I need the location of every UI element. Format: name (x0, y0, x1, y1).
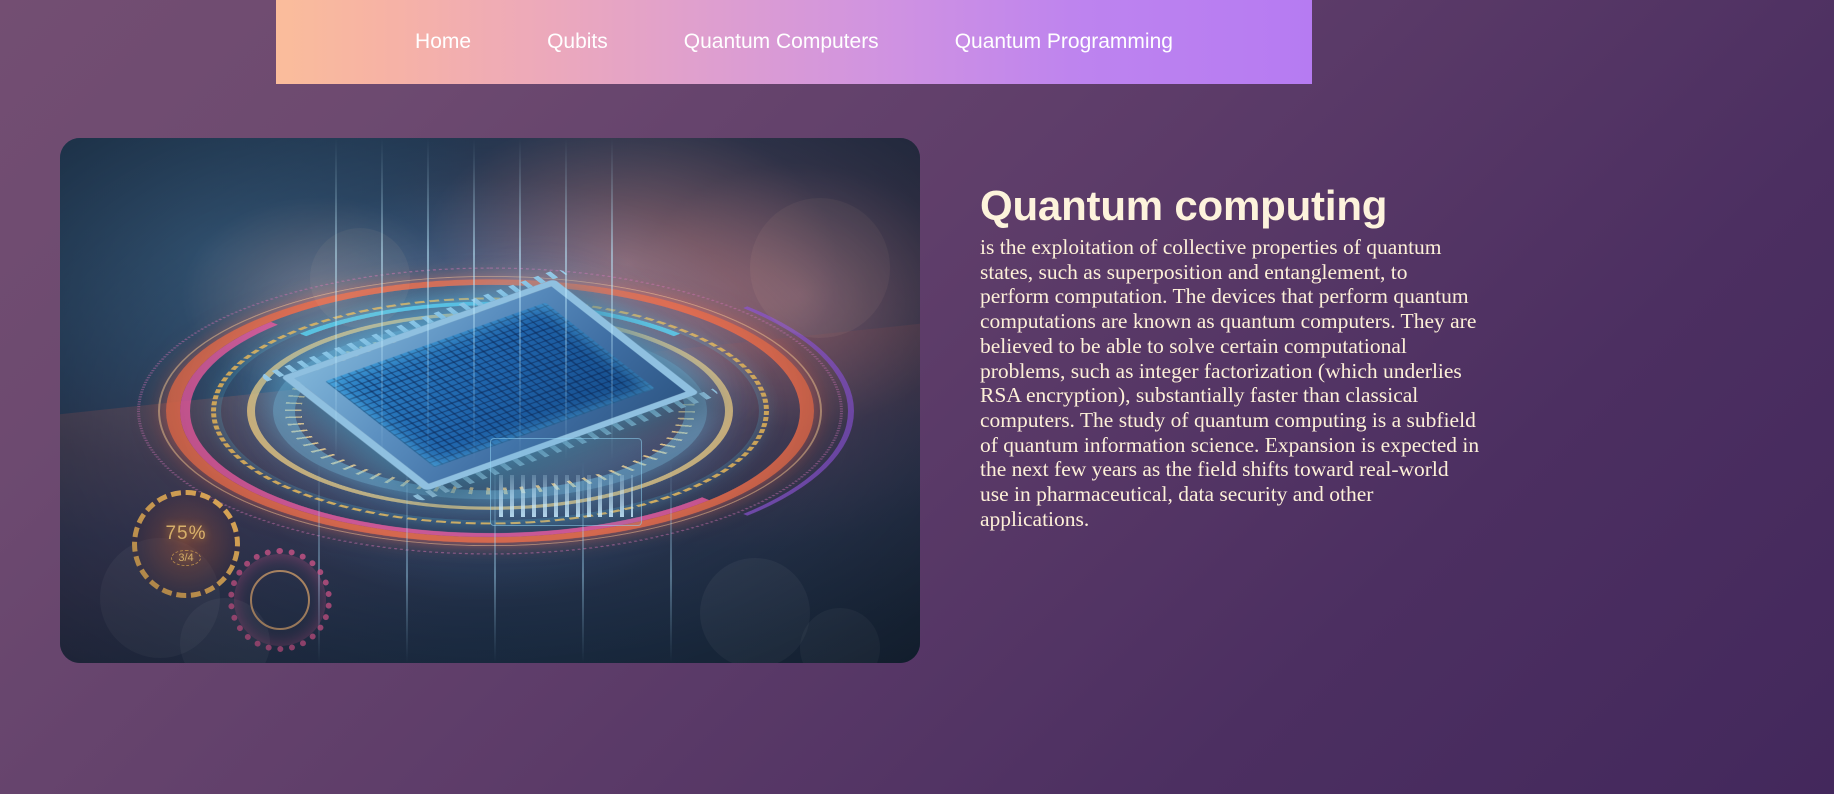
nav-item-quantum-programming[interactable]: Quantum Programming (917, 0, 1211, 84)
nav-link-home[interactable]: Home (377, 0, 509, 84)
nav-item-qubits[interactable]: Qubits (509, 0, 646, 84)
main-navigation: Home Qubits Quantum Computers Quantum Pr… (276, 0, 1312, 84)
nav-link-quantum-computers[interactable]: Quantum Computers (646, 0, 917, 84)
nav-item-home[interactable]: Home (377, 0, 509, 84)
main-content: 75% 3/4 Quantum computing is the exploit… (0, 138, 1834, 663)
hero-image: 75% 3/4 (60, 138, 920, 663)
article-text-column: Quantum computing is the exploitation of… (980, 138, 1480, 531)
page-root: Home Qubits Quantum Computers Quantum Pr… (0, 0, 1834, 794)
nav-item-quantum-computers[interactable]: Quantum Computers (646, 0, 917, 84)
page-title: Quantum computing (980, 182, 1480, 229)
nav-link-quantum-programming[interactable]: Quantum Programming (917, 0, 1211, 84)
illustration-vignette (60, 138, 920, 663)
nav-link-qubits[interactable]: Qubits (509, 0, 646, 84)
nav-list: Home Qubits Quantum Computers Quantum Pr… (377, 0, 1211, 84)
article-body: is the exploitation of collective proper… (980, 235, 1480, 531)
